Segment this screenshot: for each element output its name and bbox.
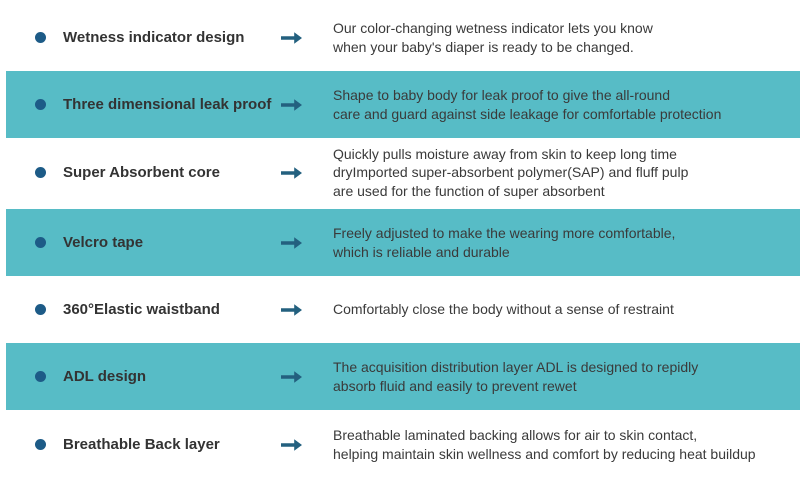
feature-name: Wetness indicator design [63,28,273,47]
product-feature-table: Wetness indicator design Our color-chang… [0,0,800,471]
feature-name: Super Absorbent core [63,163,273,182]
bullet-dot-icon [33,98,47,112]
table-row: Three dimensional leak proof Shape to ba… [0,71,800,138]
table-row: 360°Elastic waistband Comfortably close … [0,276,800,343]
arrow-right-icon [281,165,303,181]
feature-description: Comfortably close the body without a sen… [333,300,788,319]
table-row: Breathable Back layer Breathable laminat… [0,411,800,478]
bullet-dot-icon [33,31,47,45]
arrow-right-icon [281,437,303,453]
arrow-right-icon [281,369,303,385]
feature-name: ADL design [63,367,273,386]
feature-description: Quickly pulls moisture away from skin to… [333,145,788,201]
feature-description: Shape to baby body for leak proof to giv… [333,86,788,123]
arrow-right-icon [281,97,303,113]
feature-description: Freely adjusted to make the wearing more… [333,224,788,261]
feature-name: 360°Elastic waistband [63,300,273,319]
bullet-dot-icon [33,303,47,317]
feature-name: Three dimensional leak proof [63,95,273,114]
feature-name: Breathable Back layer [63,435,273,454]
feature-description: Breathable laminated backing allows for … [333,426,788,463]
feature-description: The acquisition distribution layer ADL i… [333,358,788,395]
bullet-dot-icon [33,438,47,452]
bullet-dot-icon [33,166,47,180]
table-row: Velcro tape Freely adjusted to make the … [0,209,800,276]
table-row: ADL design The acquisition distribution … [0,343,800,410]
feature-name: Velcro tape [63,233,273,252]
bullet-dot-icon [33,370,47,384]
bullet-dot-icon [33,236,47,250]
feature-description: Our color-changing wetness indicator let… [333,19,788,56]
arrow-right-icon [281,30,303,46]
arrow-right-icon [281,302,303,318]
table-row: Super Absorbent core Quickly pulls moist… [0,139,800,206]
table-row: Wetness indicator design Our color-chang… [0,4,800,71]
arrow-right-icon [281,235,303,251]
